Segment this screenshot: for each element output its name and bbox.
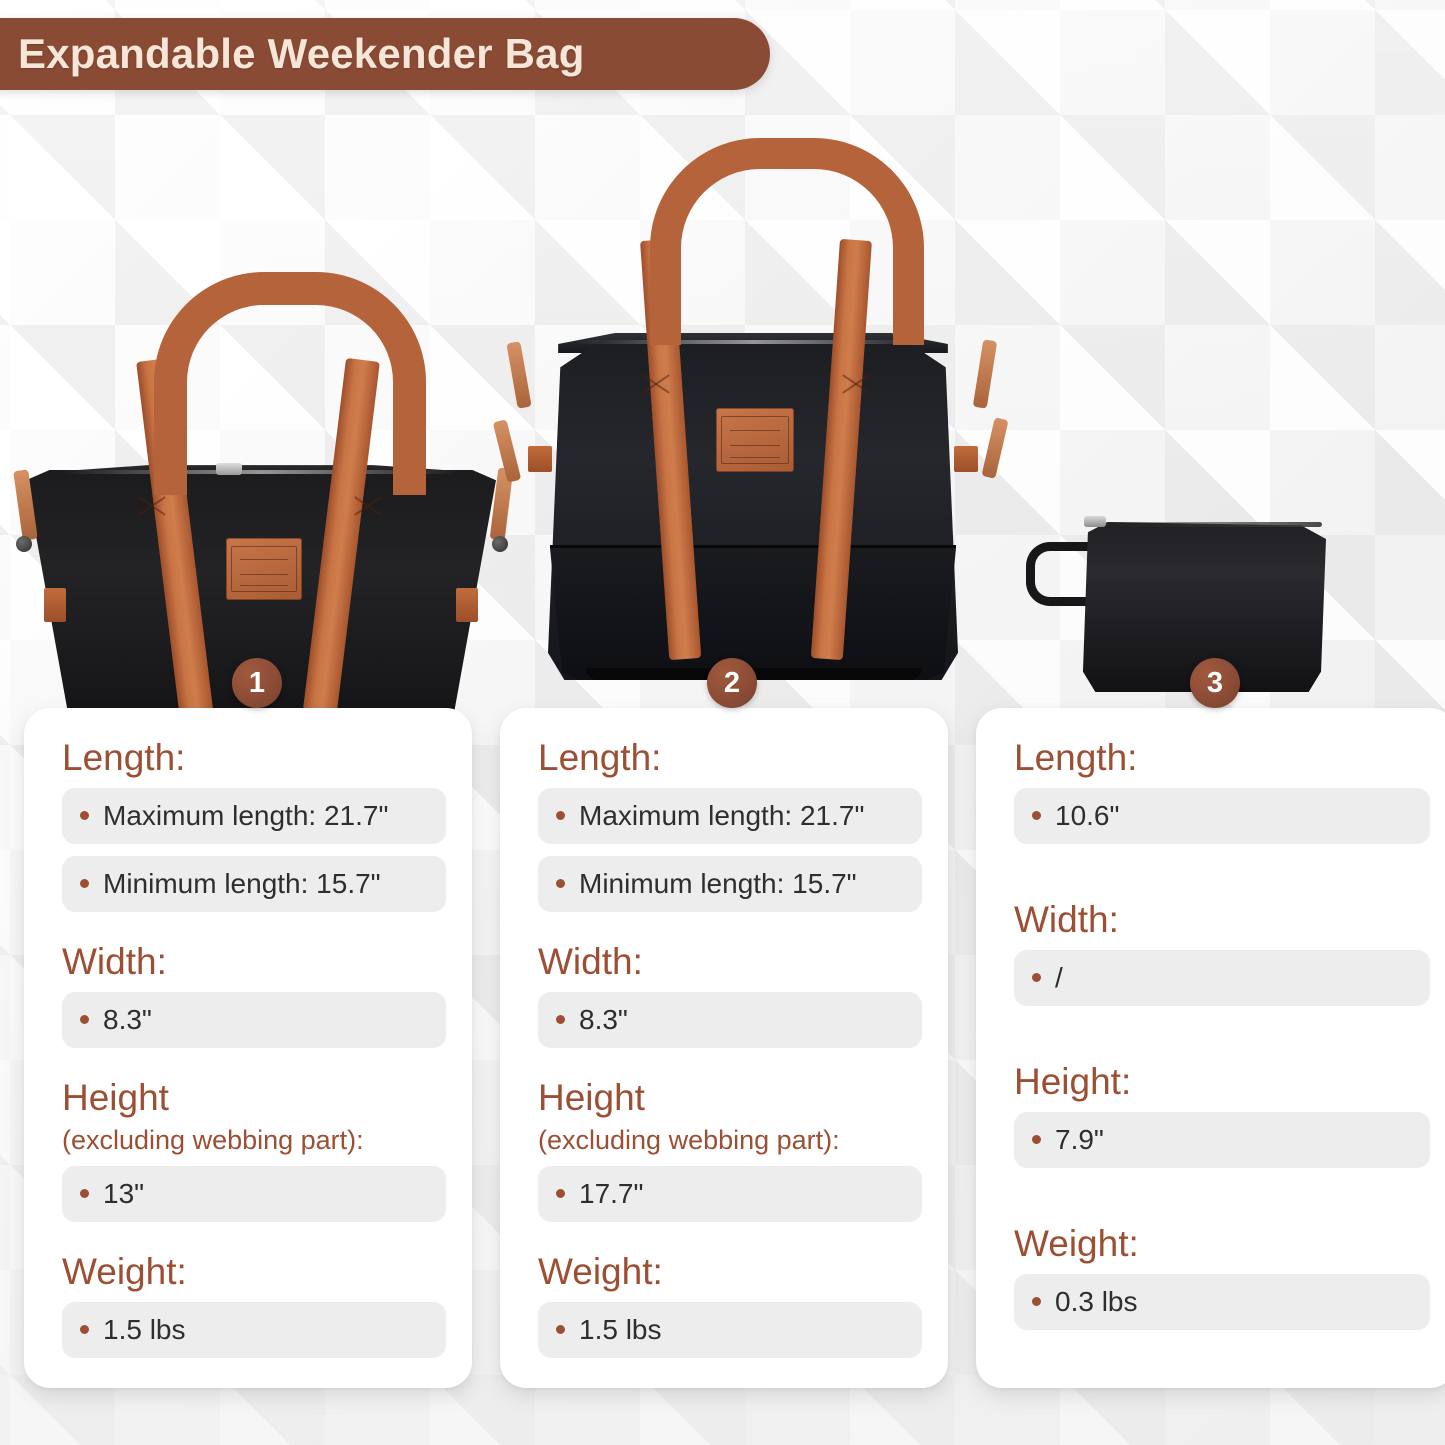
bullet-icon [80,1325,89,1334]
card3-length-heading: Length: [1014,738,1430,778]
card2-length-max-row: Maximum length: 21.7" [538,788,922,844]
bullet-icon [556,1189,565,1198]
card1-height-subheading: (excluding webbing part): [62,1126,446,1156]
card3-width-row: / [1014,950,1430,1006]
step-badge-3: 3 [1190,658,1240,708]
card3-length-value: 10.6" [1055,800,1119,832]
infographic-canvas: Expandable Weekender Bag [0,0,1445,1445]
card1-height-heading: Height [62,1078,446,1118]
bullet-icon [80,811,89,820]
card3-width-value: / [1055,962,1063,994]
bullet-icon [80,879,89,888]
card1-width-value: 8.3" [103,1004,152,1036]
step-badge-1: 1 [232,658,282,708]
spec-card-2: Length: Maximum length: 21.7" Minimum le… [500,708,948,1388]
bullet-icon [556,1325,565,1334]
card3-weight-value: 0.3 lbs [1055,1286,1138,1318]
card1-width-heading: Width: [62,942,446,982]
card1-length-max-row: Maximum length: 21.7" [62,788,446,844]
bullet-icon [1032,811,1041,820]
card1-weight-heading: Weight: [62,1252,446,1292]
card2-width-value: 8.3" [579,1004,628,1036]
bullet-icon [1032,1135,1041,1144]
card1-weight-value: 1.5 lbs [103,1314,186,1346]
bullet-icon [80,1189,89,1198]
step-badge-2: 2 [707,658,757,708]
card1-length-min-value: Minimum length: 15.7" [103,868,381,900]
card3-height-row: 7.9" [1014,1112,1430,1168]
spec-card-row: Length: Maximum length: 21.7" Minimum le… [0,0,1445,1445]
card1-height-value: 13" [103,1178,144,1210]
card3-height-value: 7.9" [1055,1124,1104,1156]
card3-length-row: 10.6" [1014,788,1430,844]
bullet-icon [556,879,565,888]
bullet-icon [1032,1297,1041,1306]
page-title: Expandable Weekender Bag [18,30,585,78]
card3-height-heading: Height: [1014,1062,1430,1102]
header-banner: Expandable Weekender Bag [0,18,770,90]
card2-length-heading: Length: [538,738,922,778]
card2-height-row: 17.7" [538,1166,922,1222]
card2-height-subheading: (excluding webbing part): [538,1126,922,1156]
card1-length-heading: Length: [62,738,446,778]
spec-card-1: Length: Maximum length: 21.7" Minimum le… [24,708,472,1388]
card1-length-min-row: Minimum length: 15.7" [62,856,446,912]
card3-weight-row: 0.3 lbs [1014,1274,1430,1330]
bullet-icon [556,1015,565,1024]
card2-weight-value: 1.5 lbs [579,1314,662,1346]
card2-weight-row: 1.5 lbs [538,1302,922,1358]
card3-width-heading: Width: [1014,900,1430,940]
card2-length-min-value: Minimum length: 15.7" [579,868,857,900]
card1-weight-row: 1.5 lbs [62,1302,446,1358]
card2-length-min-row: Minimum length: 15.7" [538,856,922,912]
bullet-icon [556,811,565,820]
card2-height-value: 17.7" [579,1178,643,1210]
card2-length-max-value: Maximum length: 21.7" [579,800,864,832]
card1-height-row: 13" [62,1166,446,1222]
bullet-icon [1032,973,1041,982]
card2-width-row: 8.3" [538,992,922,1048]
card2-width-heading: Width: [538,942,922,982]
spec-card-3: Length: 10.6" Width: / Height: 7.9" Weig… [976,708,1445,1388]
card1-length-max-value: Maximum length: 21.7" [103,800,388,832]
card3-weight-heading: Weight: [1014,1224,1430,1264]
card1-width-row: 8.3" [62,992,446,1048]
bullet-icon [80,1015,89,1024]
card2-weight-heading: Weight: [538,1252,922,1292]
card2-height-heading: Height [538,1078,922,1118]
